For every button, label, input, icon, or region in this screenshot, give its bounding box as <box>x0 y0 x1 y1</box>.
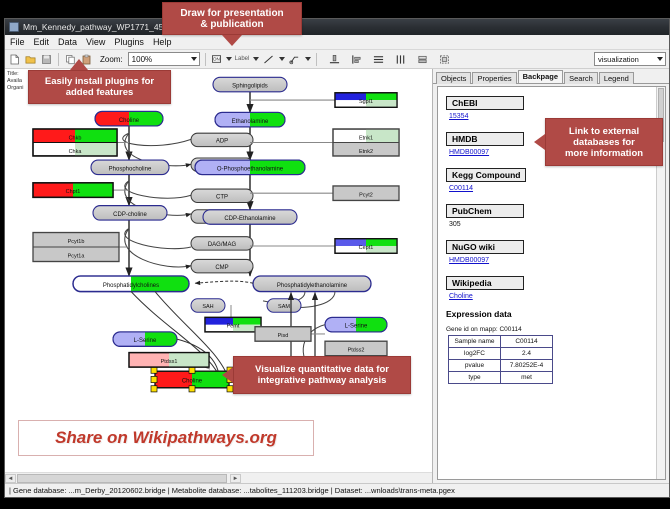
visualization-value: visualization <box>598 55 639 64</box>
line-dropdown-icon[interactable] <box>279 57 285 61</box>
node-phosphocholine[interactable]: Phosphocholine <box>91 160 169 174</box>
align-bottom-icon[interactable] <box>328 53 341 66</box>
gene-box-ptdss1[interactable]: Ptdss1 <box>129 353 209 367</box>
cell-label: type <box>449 372 501 384</box>
callout-line-2: integrative pathway analysis <box>258 375 387 386</box>
node-cdp-ethanolamine[interactable]: CDP-Ethanolamine <box>203 210 297 224</box>
group-icon[interactable] <box>438 53 451 66</box>
callout-line-2: databases for <box>573 137 635 148</box>
gene-box-pcyt1b-pcyt1a[interactable]: Pcyt1b Pcyt1a <box>33 233 119 262</box>
gene-box-pcyt2[interactable]: Pcyt2 <box>333 186 399 200</box>
callout-plugins-tail-icon <box>70 59 88 70</box>
node-label: CTP <box>216 193 228 200</box>
side-panel-tabs: Objects Properties Backpage Search Legen… <box>433 69 669 84</box>
gene-label: Etnk2 <box>359 149 373 155</box>
scroll-right-arrow-icon[interactable]: ► <box>230 474 241 483</box>
node-ethanolamine-top[interactable]: Ethanolamine <box>215 112 285 126</box>
expression-data-title: Expression data <box>446 309 665 319</box>
callout-share-wikipathways: Share on Wikipathways.org <box>18 420 314 456</box>
gene-label: Ptdss2 <box>348 347 365 353</box>
gene-label: Pemt <box>227 324 240 330</box>
gene-box-sgpl1[interactable]: Sgpl1 <box>335 93 397 107</box>
scroll-left-arrow-icon[interactable]: ◄ <box>5 474 16 483</box>
toolbar-separator-3 <box>316 53 317 66</box>
gene-label: Chka <box>69 149 83 155</box>
cell-value: C00114 <box>501 336 553 348</box>
menu-item-edit[interactable]: Edit <box>34 37 50 47</box>
scroll-thumb[interactable] <box>17 474 227 483</box>
callout-line-1: Draw for presentation <box>180 8 283 19</box>
gene-label: Cept1 <box>359 245 374 251</box>
new-file-icon[interactable] <box>8 53 21 66</box>
cell-label: log2FC <box>449 348 501 360</box>
db-header-kegg: Kegg Compound <box>446 168 526 182</box>
gene-label: Chkb <box>69 135 82 141</box>
gene-id-line: Gene id on mapp: C00114 <box>446 326 665 333</box>
node-ctp[interactable]: CTP <box>191 189 253 202</box>
gene-box-pemt[interactable]: Pemt <box>205 317 261 331</box>
db-header-hmdb: HMDB <box>446 132 524 146</box>
db-link-nugo[interactable]: HMDB00097 <box>449 257 665 264</box>
callout-draw-for-publication: Draw for presentation & publication <box>162 2 302 35</box>
node-label: Ethanolamine <box>232 118 269 125</box>
interaction-dropdown-icon[interactable] <box>305 57 311 61</box>
node-sah[interactable]: SAH <box>191 299 225 312</box>
stack-icon[interactable] <box>416 53 429 66</box>
node-phosphatidylethanolamine[interactable]: Phosphatidylethanolamine <box>253 276 371 292</box>
node-l-serine-right[interactable]: L-Serine <box>325 317 387 331</box>
tab-legend[interactable]: Legend <box>599 72 634 84</box>
node-label: ADP <box>216 137 228 144</box>
canvas-meta-labels: Title: Availa Organi <box>7 71 24 92</box>
cell-label: Sample name <box>449 336 501 348</box>
cell-value: 2.4 <box>501 348 553 360</box>
tab-properties[interactable]: Properties <box>472 72 516 84</box>
gene-label: Pcyt1b <box>68 239 85 245</box>
callout-line-1: Easily install plugins for <box>45 76 154 87</box>
db-value-pubchem: 305 <box>449 221 665 228</box>
node-label: Choline <box>119 117 140 124</box>
share-text: Share on Wikipathways.org <box>55 428 277 448</box>
cell-value: 7.80252E-4 <box>501 360 553 372</box>
callout-line-2: & publication <box>200 19 263 30</box>
gene-box-cept1[interactable]: Cept1 <box>335 239 397 253</box>
distribute-horizontal-icon[interactable] <box>394 53 407 66</box>
chevron-down-icon-viz[interactable] <box>657 57 663 61</box>
db-header-nugo: NuGO wiki <box>446 240 524 254</box>
gene-label: Pcyt1a <box>68 253 86 259</box>
expression-table: Sample name C00114 log2FC 2.4 pvalue 7.8… <box>448 335 553 384</box>
canvas-title-label: Title: <box>7 71 24 78</box>
callout-line-2: added features <box>66 87 134 98</box>
node-label: Sphingolipids <box>232 83 268 90</box>
callout-draw-tail-icon <box>222 35 242 46</box>
gene-label: Pcyt2 <box>359 192 373 198</box>
toolbar: Zoom: 100% DN Label <box>5 50 669 69</box>
node-label: Choline <box>182 378 203 385</box>
canvas-hscrollbar[interactable]: ◄ ► <box>5 472 432 483</box>
callout-visualize-data: Visualize quantitative data for integrat… <box>233 356 411 394</box>
callout-install-plugins: Easily install plugins for added feature… <box>28 70 171 104</box>
node-cmp[interactable]: CMP <box>191 259 253 272</box>
callout-external-links: Link to external databases for more info… <box>545 118 663 166</box>
toolbar-separator-2 <box>205 53 206 66</box>
node-adp[interactable]: ADP <box>191 133 253 146</box>
chevron-down-icon[interactable] <box>191 57 197 61</box>
menu-item-plugins[interactable]: Plugins <box>114 37 144 47</box>
callout-line-1: Visualize quantitative data for <box>255 364 389 375</box>
gene-label: Chpt1 <box>66 189 81 195</box>
db-header-wikipedia: Wikipedia <box>446 276 524 290</box>
table-row: type met <box>449 372 553 384</box>
callout-visualize-tail-icon <box>222 367 233 383</box>
node-cdp-choline[interactable]: CDP-choline <box>93 206 167 220</box>
table-row: Sample name C00114 <box>449 336 553 348</box>
datanode-tool-icon[interactable]: DN <box>211 53 222 66</box>
label-dropdown-icon[interactable] <box>253 57 259 61</box>
node-label: DAG/MAG <box>208 241 237 248</box>
db-link-kegg[interactable]: C00114 <box>449 185 665 192</box>
node-label: Phosphatidylcholines <box>103 282 159 289</box>
node-o-phosphoethanolamine[interactable]: O-Phosphoethanolamine <box>195 160 305 174</box>
tab-objects[interactable]: Objects <box>436 72 471 84</box>
open-file-icon[interactable] <box>24 53 37 66</box>
node-label: L-Serine <box>134 337 157 344</box>
label-tool-label[interactable]: Label <box>235 56 250 62</box>
menu-item-file[interactable]: File <box>10 37 25 47</box>
node-label: SAM <box>278 304 290 310</box>
svg-text:DN: DN <box>213 57 220 62</box>
menu-item-help[interactable]: Help <box>153 37 172 47</box>
menu-item-view[interactable]: View <box>86 37 105 47</box>
node-label: CDP-choline <box>113 211 147 218</box>
node-label: SAH <box>202 304 213 310</box>
cell-label: pvalue <box>449 360 501 372</box>
node-choline-top[interactable]: Choline <box>95 111 163 125</box>
gene-box-chpt1[interactable]: Chpt1 <box>33 183 113 197</box>
gene-box-ptdss2[interactable]: Ptdss2 <box>325 341 387 355</box>
canvas-organism-label: Organi <box>7 85 24 92</box>
node-label: Phosphocholine <box>109 165 152 172</box>
zoom-value: 100% <box>132 55 152 64</box>
db-header-pubchem: PubChem <box>446 204 524 218</box>
callout-line-3: more information <box>565 148 643 159</box>
gene-box-etnk1-etnk2[interactable]: Etnk1 Etnk2 <box>333 129 399 156</box>
gene-label: Pisd <box>278 333 289 339</box>
node-sam[interactable]: SAM <box>267 299 301 312</box>
canvas-available-label: Availa <box>7 78 24 85</box>
line-tool-icon[interactable] <box>262 53 275 66</box>
toolbar-separator <box>58 53 59 66</box>
tab-search[interactable]: Search <box>564 72 598 84</box>
node-label: L-Serine <box>345 323 368 330</box>
gene-box-pisd[interactable]: Pisd <box>255 327 311 341</box>
cell-value: met <box>501 372 553 384</box>
menubar: File Edit Data View Plugins Help <box>5 35 669 50</box>
gene-label: Ptdss1 <box>161 359 178 365</box>
table-row: log2FC 2.4 <box>449 348 553 360</box>
datanode-dropdown-icon[interactable] <box>226 57 232 61</box>
align-left-icon[interactable] <box>350 53 363 66</box>
node-phosphatidylcholines[interactable]: Phosphatidylcholines <box>73 276 189 292</box>
node-label: O-Phosphoethanolamine <box>217 165 284 172</box>
app-icon <box>9 22 19 32</box>
callout-links-tail-icon <box>534 134 545 150</box>
callout-line-1: Link to external <box>569 126 639 137</box>
distribute-vertical-icon[interactable] <box>372 53 385 66</box>
gene-box-chkb-chka[interactable]: Chkb Chka <box>33 129 117 156</box>
node-dagmag[interactable]: DAG/MAG <box>191 237 253 250</box>
menu-item-data[interactable]: Data <box>58 37 77 47</box>
node-sphingolipids[interactable]: Sphingolipids <box>213 77 287 91</box>
table-row: pvalue 7.80252E-4 <box>449 360 553 372</box>
node-l-serine-left[interactable]: L-Serine <box>113 332 177 346</box>
statusbar-text: | Gene database: ...m_Derby_20120602.bri… <box>9 486 455 495</box>
window-titlebar: Mm_Kennedy_pathway_WP1771_45176.gpml <box>5 19 669 35</box>
node-label: CDP-Ethanolamine <box>224 215 276 222</box>
db-link-wikipedia[interactable]: Choline <box>449 293 665 300</box>
tab-backpage[interactable]: Backpage <box>518 70 563 83</box>
node-label: CMP <box>215 264 228 271</box>
gene-label: Etnk1 <box>359 135 373 141</box>
interaction-tool-icon[interactable] <box>288 53 301 66</box>
node-choline-selected[interactable]: Choline <box>151 367 233 392</box>
zoom-label: Zoom: <box>100 55 123 64</box>
db-header-chebi: ChEBI <box>446 96 524 110</box>
gene-label: Sgpl1 <box>359 99 373 105</box>
save-file-icon[interactable] <box>40 53 53 66</box>
zoom-combobox[interactable]: 100% <box>128 52 200 66</box>
node-label: Phosphatidylethanolamine <box>277 282 348 289</box>
statusbar: | Gene database: ...m_Derby_20120602.bri… <box>5 483 669 497</box>
visualization-combobox[interactable]: visualization <box>594 52 666 66</box>
